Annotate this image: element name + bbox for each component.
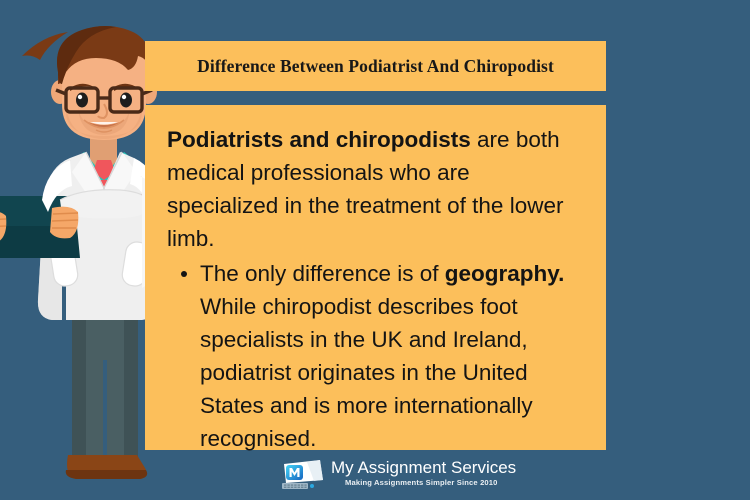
page-title: Difference Between Podiatrist And Chirop… bbox=[197, 56, 554, 77]
logo-dot bbox=[310, 484, 314, 488]
brand-logo[interactable]: My Assignment Services Making Assignment… bbox=[280, 458, 475, 494]
poster-canvas: Difference Between Podiatrist And Chirop… bbox=[0, 0, 750, 500]
left-eye bbox=[76, 93, 88, 108]
logo-mark bbox=[280, 458, 328, 492]
body-card: Podiatrists and chiropodists are both me… bbox=[145, 105, 606, 450]
keyboard-base bbox=[282, 483, 308, 489]
bullet-emphasis: geography. bbox=[445, 261, 565, 286]
brand-tagline: Making Assignments Simpler Since 2010 bbox=[345, 478, 516, 488]
right-eye bbox=[120, 93, 132, 108]
intro-paragraph: Podiatrists and chiropodists are both me… bbox=[167, 123, 584, 255]
list-item: The only difference is of geography. Whi… bbox=[167, 257, 584, 455]
bullet-point-icon bbox=[181, 271, 187, 277]
bullet-post: While chiropodist describes foot special… bbox=[200, 294, 533, 451]
difference-bullet-list: The only difference is of geography. Whi… bbox=[167, 257, 584, 455]
title-card: Difference Between Podiatrist And Chirop… bbox=[145, 41, 606, 91]
brand-name: My Assignment Services bbox=[331, 459, 516, 477]
bullet-pre: The only difference is of bbox=[200, 261, 445, 286]
right-hand bbox=[50, 207, 78, 239]
intro-lead: Podiatrists and chiropodists bbox=[167, 127, 471, 152]
logo-text-group: My Assignment Services Making Assignment… bbox=[331, 458, 516, 488]
my-assignment-services-mark bbox=[280, 458, 328, 492]
